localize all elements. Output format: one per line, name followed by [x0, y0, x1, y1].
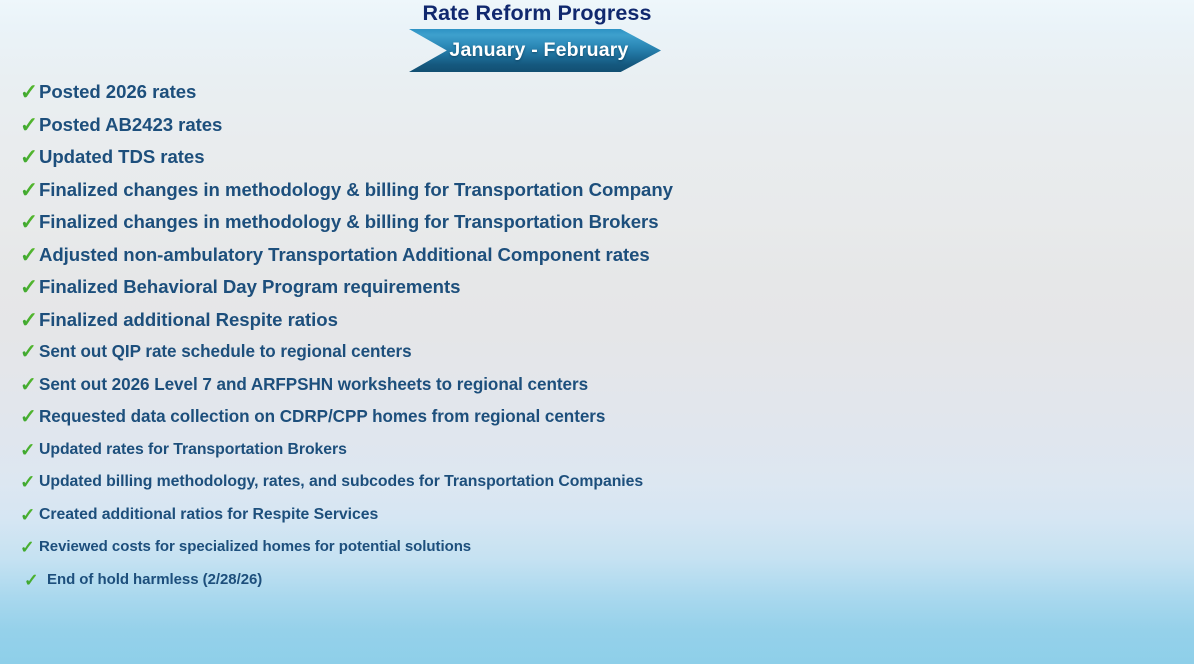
checklist-item: ✓Sent out 2026 Level 7 and ARFPSHN works… — [20, 369, 1170, 402]
checklist-item-label: Finalized additional Respite ratios — [39, 304, 338, 337]
page-title-text: Rate Reform Progress — [422, 1, 651, 26]
checklist-item: ✓Requested data collection on CDRP/CPP h… — [20, 401, 1170, 434]
checklist-item: ✓Updated billing methodology, rates, and… — [20, 466, 1170, 499]
checklist-item: ✓Posted AB2423 rates — [20, 109, 1170, 142]
checklist-item-label: Finalized changes in methodology & billi… — [39, 206, 659, 239]
checklist-item-label: Updated TDS rates — [39, 141, 205, 174]
checklist-item-label: Finalized changes in methodology & billi… — [39, 174, 673, 207]
checklist-item-label: Posted 2026 rates — [39, 76, 196, 109]
checklist-item-label: Created additional ratios for Respite Se… — [39, 499, 378, 532]
check-icon: ✓ — [20, 141, 39, 174]
check-icon: ✓ — [20, 401, 39, 434]
slide-canvas: Rate Reform Progress January - February … — [0, 0, 1194, 664]
checklist-item-label: Posted AB2423 rates — [39, 109, 222, 142]
check-icon: ✓ — [20, 271, 39, 304]
checklist-item-label: Reviewed costs for specialized homes for… — [39, 531, 471, 564]
period-banner: January - February — [409, 29, 661, 72]
check-icon: ✓ — [20, 206, 39, 239]
checklist-item-label: Sent out 2026 Level 7 and ARFPSHN worksh… — [39, 369, 588, 402]
checklist-item: ✓Updated rates for Transportation Broker… — [20, 434, 1170, 467]
check-icon: ✓ — [20, 304, 39, 337]
checklist-item: ✓Posted 2026 rates — [20, 76, 1170, 109]
check-icon: ✓ — [20, 499, 39, 532]
check-icon: ✓ — [24, 564, 43, 597]
check-icon: ✓ — [20, 239, 39, 272]
checklist-item: ✓Sent out QIP rate schedule to regional … — [20, 336, 1170, 369]
check-icon: ✓ — [20, 336, 39, 369]
check-icon: ✓ — [20, 369, 39, 402]
checklist-item-label: Updated rates for Transportation Brokers — [39, 434, 347, 467]
period-banner-label: January - February — [409, 29, 661, 72]
checklist-item: ✓Finalized additional Respite ratios — [20, 304, 1170, 337]
checklist-item: ✓Adjusted non-ambulatory Transportation … — [20, 239, 1170, 272]
checklist-item: ✓Finalized changes in methodology & bill… — [20, 174, 1170, 207]
checklist-item-label: Sent out QIP rate schedule to regional c… — [39, 336, 412, 369]
check-icon: ✓ — [20, 109, 39, 142]
check-icon: ✓ — [20, 76, 39, 109]
checklist-item-label: Requested data collection on CDRP/CPP ho… — [39, 401, 605, 434]
check-icon: ✓ — [20, 466, 39, 499]
checklist-item: ✓Updated TDS rates — [20, 141, 1170, 174]
checklist-item: ✓End of hold harmless (2/28/26) — [20, 564, 1170, 597]
checklist-item-label: Adjusted non-ambulatory Transportation A… — [39, 239, 650, 272]
page-title: Rate Reform Progress — [0, 1, 1194, 26]
checklist-item: ✓Finalized changes in methodology & bill… — [20, 206, 1170, 239]
checklist-item: ✓Reviewed costs for specialized homes fo… — [20, 531, 1170, 564]
check-icon: ✓ — [20, 531, 39, 564]
checklist-item-label: End of hold harmless (2/28/26) — [47, 564, 262, 597]
checklist-item-label: Updated billing methodology, rates, and … — [39, 466, 643, 499]
check-icon: ✓ — [20, 174, 39, 207]
checklist-item-label: Finalized Behavioral Day Program require… — [39, 271, 460, 304]
progress-checklist: ✓Posted 2026 rates✓Posted AB2423 rates✓U… — [20, 76, 1170, 596]
checklist-item: ✓Finalized Behavioral Day Program requir… — [20, 271, 1170, 304]
check-icon: ✓ — [20, 434, 39, 467]
checklist-item: ✓Created additional ratios for Respite S… — [20, 499, 1170, 532]
